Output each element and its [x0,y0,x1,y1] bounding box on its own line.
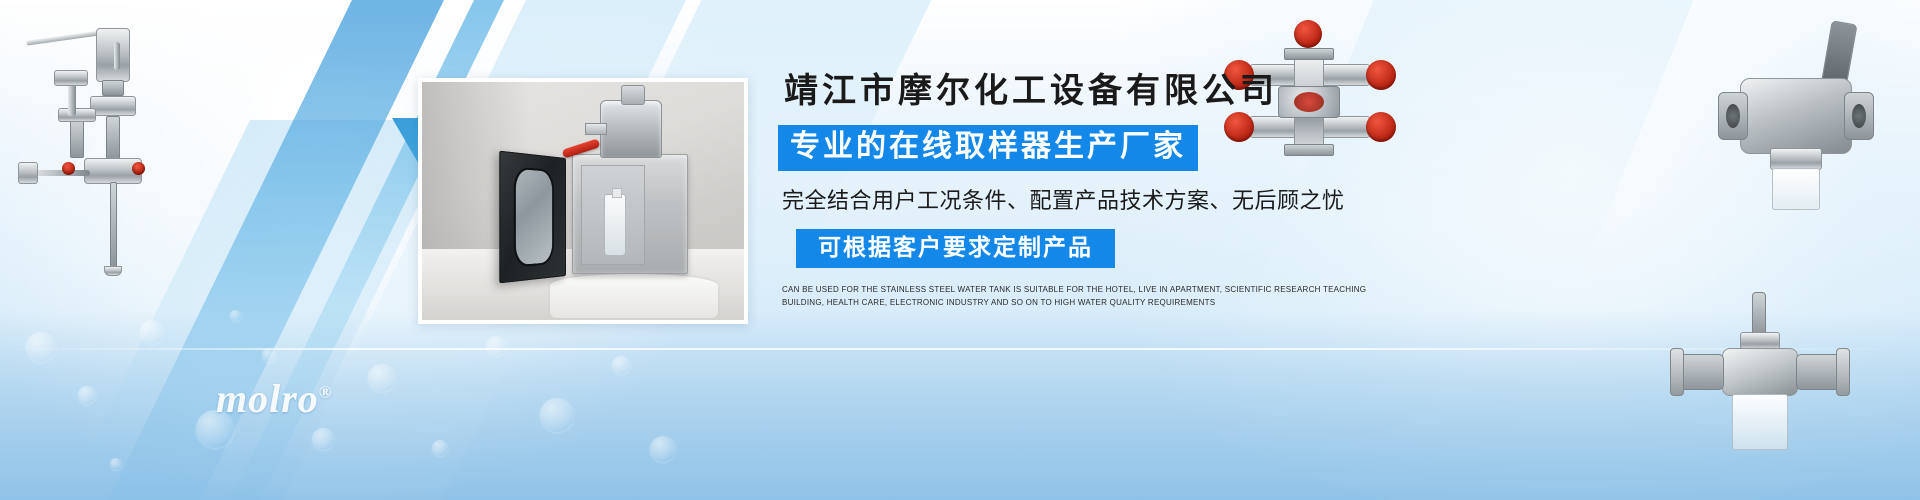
sun-core [243,29,393,179]
horizon-line [0,348,1920,350]
custom-product-badge: 可根据客户要求定制产品 [796,229,1115,268]
registered-mark-icon: ® [319,383,333,402]
sampler-assembly-icon [10,22,170,302]
sub-line: 完全结合用户工况条件、配置产品技术方案、无后顾之忧 [782,183,1418,215]
watermark-logo: molro® [216,375,333,422]
watermark-text: molro [216,376,319,421]
headline-badge: 专业的在线取样器生产厂家 [778,125,1198,172]
company-name: 靖江市摩尔化工设备有限公司 [784,70,1418,114]
banner-copy: 靖江市摩尔化工设备有限公司 专业的在线取样器生产厂家 完全结合用户工况条件、配置… [778,70,1418,310]
english-caption: Can be used for the stainless steel wate… [782,284,1392,310]
product-banner: 靖江市摩尔化工设备有限公司 专业的在线取样器生产厂家 完全结合用户工况条件、配置… [0,0,1920,500]
product-photo-sampling-cabinet [418,78,748,324]
ball-valve-icon [1670,292,1860,462]
valve-body-icon [1714,22,1884,212]
ribbon-left-soft [16,120,460,500]
